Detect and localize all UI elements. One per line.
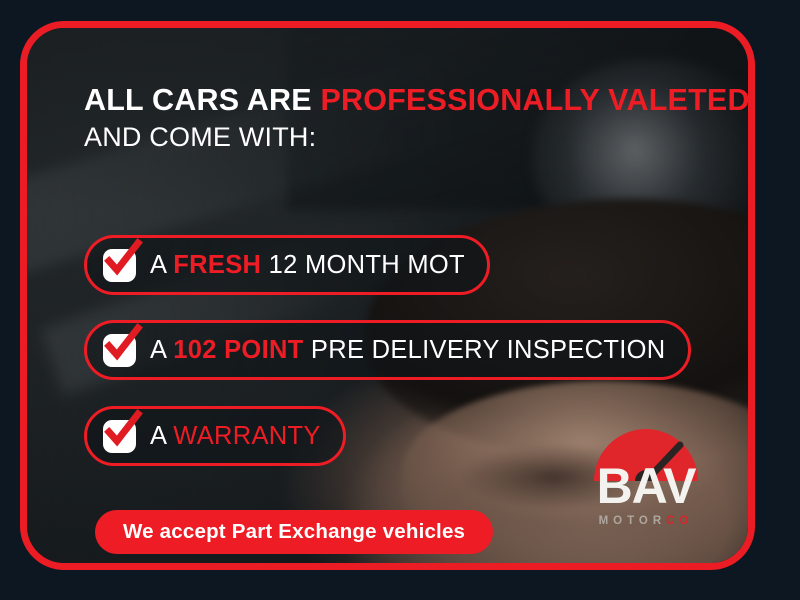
feature-1-suffix: 12 MONTH MOT bbox=[261, 251, 465, 279]
headline-line-1: ALL CARS ARE PROFESSIONALLY VALETED bbox=[84, 84, 744, 117]
logo-subtitle-motor: MOTOR bbox=[599, 515, 667, 527]
checkbox-checked-icon bbox=[103, 420, 136, 453]
feature-3-highlight: WARRANTY bbox=[173, 422, 320, 450]
feature-1-prefix: A bbox=[150, 251, 173, 279]
logo-subtitle-co: CO bbox=[666, 515, 693, 527]
bav-motor-co-logo: BAV MOTORCO bbox=[570, 429, 722, 547]
feature-pill-warranty[interactable]: A WARRANTY bbox=[84, 406, 346, 466]
feature-2-suffix: PRE DELIVERY INSPECTION bbox=[304, 336, 666, 364]
part-exchange-badge[interactable]: We accept Part Exchange vehicles bbox=[95, 510, 493, 554]
feature-2-highlight: 102 POINT bbox=[173, 336, 303, 364]
logo-subtitle: MOTORCO bbox=[570, 515, 722, 527]
headline-line-1-red: PROFESSIONALLY VALETED bbox=[320, 83, 749, 117]
logo-wordmark: BAV bbox=[570, 461, 722, 511]
advert-content: ALL CARS ARE PROFESSIONALLY VALETED AND … bbox=[27, 28, 748, 563]
advert-frame: ALL CARS ARE PROFESSIONALLY VALETED AND … bbox=[20, 21, 755, 570]
feature-pill-inspection[interactable]: A 102 POINT PRE DELIVERY INSPECTION bbox=[84, 320, 691, 380]
feature-1-highlight: FRESH bbox=[173, 251, 261, 279]
feature-pill-mot-label: A FRESH 12 MONTH MOT bbox=[150, 251, 465, 280]
feature-3-prefix: A bbox=[150, 422, 173, 450]
feature-pill-warranty-label: A WARRANTY bbox=[150, 422, 321, 451]
feature-pill-inspection-label: A 102 POINT PRE DELIVERY INSPECTION bbox=[150, 336, 666, 365]
headline-block: ALL CARS ARE PROFESSIONALLY VALETED AND … bbox=[84, 84, 744, 155]
feature-2-prefix: A bbox=[150, 336, 173, 364]
checkbox-checked-icon bbox=[103, 334, 136, 367]
headline-line-1-white: ALL CARS ARE bbox=[84, 83, 320, 117]
headline-line-2: AND COME WITH: bbox=[84, 121, 744, 155]
checkbox-checked-icon bbox=[103, 249, 136, 282]
feature-pill-mot[interactable]: A FRESH 12 MONTH MOT bbox=[84, 235, 490, 295]
part-exchange-badge-label: We accept Part Exchange vehicles bbox=[123, 520, 465, 544]
